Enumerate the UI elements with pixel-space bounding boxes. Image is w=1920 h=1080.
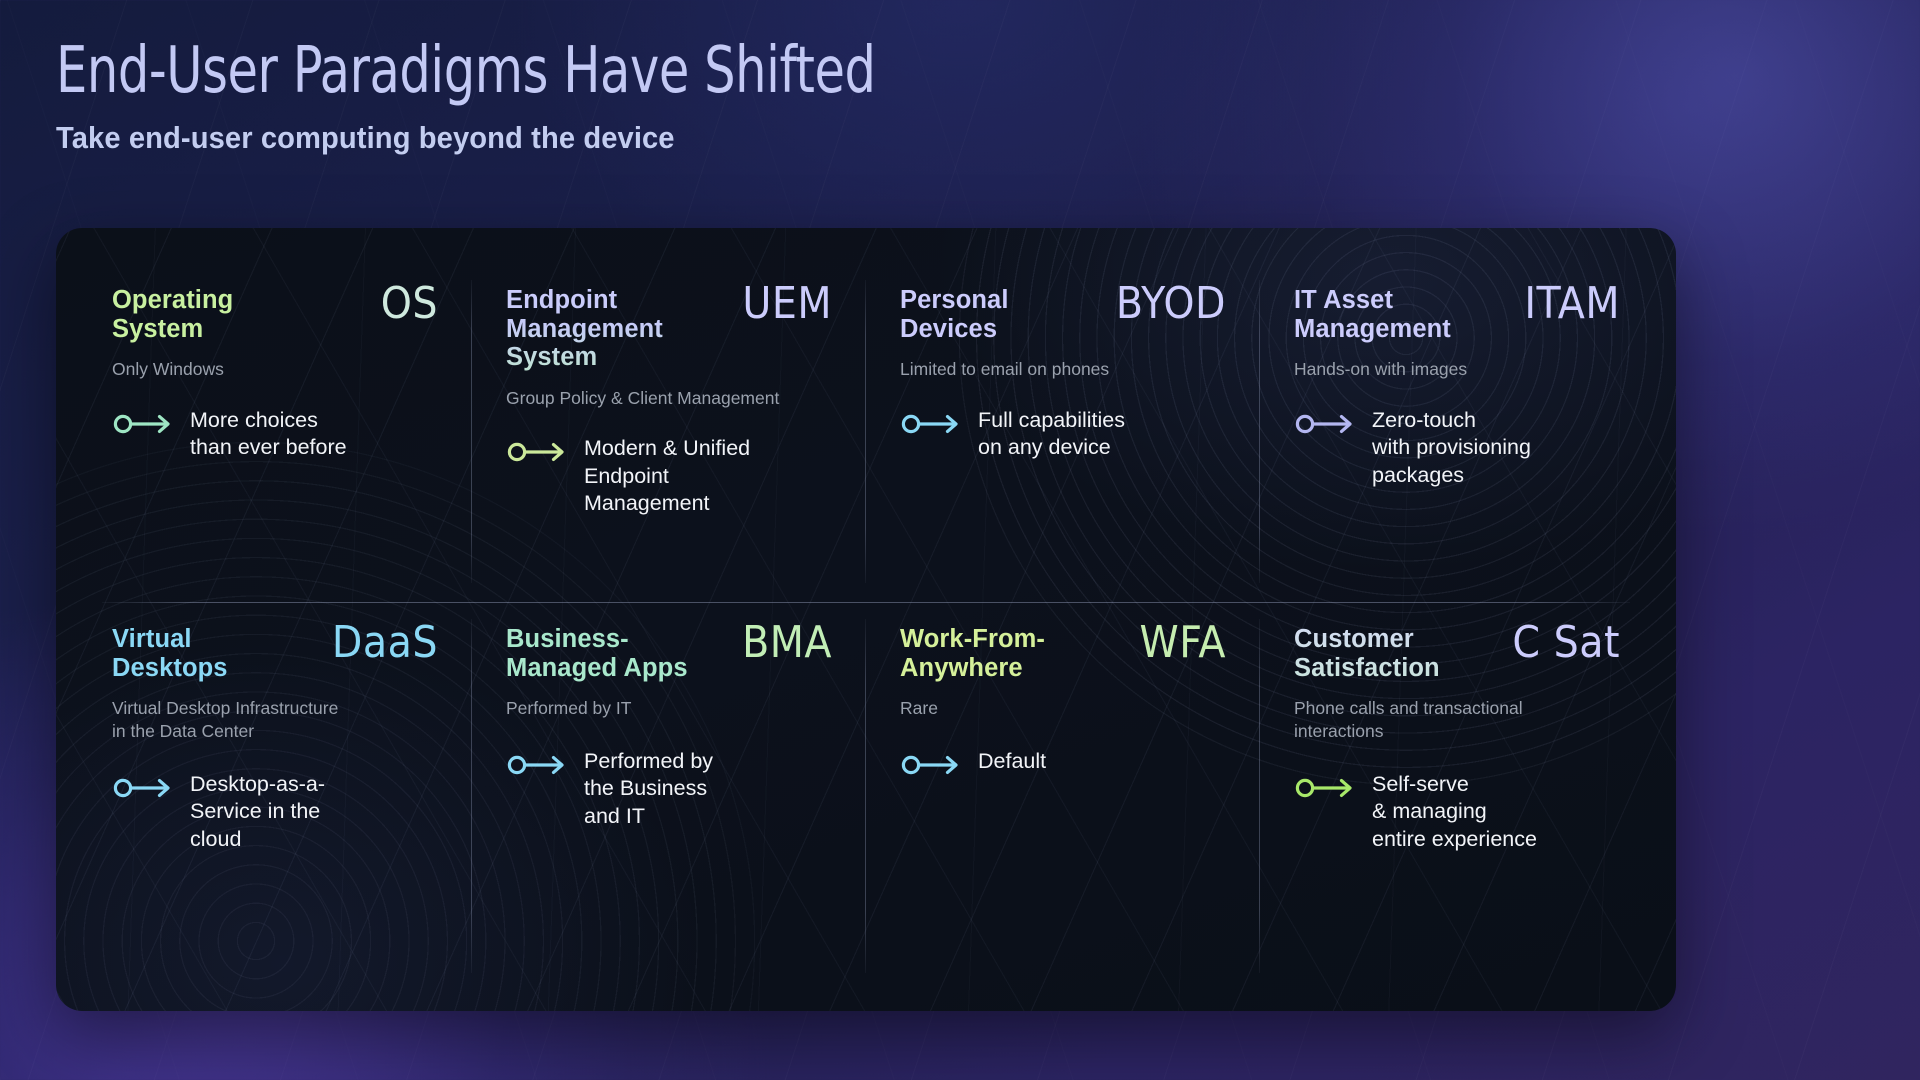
- cell-outcome-text-byod: Full capabilities on any device: [978, 407, 1125, 462]
- cell-outcome-text-os: More choices than ever before: [190, 407, 347, 462]
- cell-header-itam: IT Asset ManagementITAM: [1294, 286, 1620, 343]
- cell-outcome-text-bma: Performed by the Business and IT: [584, 748, 713, 831]
- cell-title-itam: IT Asset Management: [1294, 286, 1451, 343]
- cell-description-byod: Limited to email on phones: [900, 358, 1226, 381]
- paradigm-cell-wfa: Work-From- AnywhereWFARareDefault: [866, 601, 1260, 991]
- cell-title-c-sat: Customer Satisfaction: [1294, 625, 1440, 682]
- cell-header-os: Operating SystemOS: [112, 286, 438, 343]
- circle-arrow-icon: [112, 411, 174, 442]
- circle-arrow-icon: [112, 775, 174, 806]
- cell-outcome-wfa: Default: [900, 748, 1226, 783]
- circle-arrow-icon: [900, 752, 962, 783]
- cell-description-os: Only Windows: [112, 358, 438, 381]
- cell-outcome-byod: Full capabilities on any device: [900, 407, 1226, 462]
- cell-abbreviation-wfa: WFA: [1140, 621, 1226, 665]
- cell-outcome-uem: Modern & Unified Endpoint Management: [506, 435, 832, 518]
- cell-abbreviation-bma: BMA: [742, 621, 832, 665]
- cell-header-c-sat: Customer SatisfactionC Sat: [1294, 625, 1620, 682]
- slide-header: End-User Paradigms Have Shifted Take end…: [56, 38, 1356, 156]
- cell-title-wfa: Work-From- Anywhere: [900, 625, 1045, 682]
- page-title: End-User Paradigms Have Shifted: [56, 38, 1174, 106]
- cell-outcome-text-itam: Zero-touch with provisioning packages: [1372, 407, 1531, 490]
- circle-arrow-icon: [1294, 775, 1356, 806]
- cell-header-wfa: Work-From- AnywhereWFA: [900, 625, 1226, 682]
- circle-arrow-icon: [506, 439, 568, 470]
- circle-arrow-icon: [1294, 411, 1356, 442]
- cell-description-itam: Hands-on with images: [1294, 358, 1620, 381]
- cell-title-daas: Virtual Desktops: [112, 625, 228, 682]
- cell-outcome-c-sat: Self-serve & managing entire experience: [1294, 771, 1620, 854]
- cell-title-uem: Endpoint Management System: [506, 286, 663, 372]
- paradigm-cell-uem: Endpoint Management SystemUEMGroup Polic…: [472, 262, 866, 601]
- cell-title-os: Operating System: [112, 286, 233, 343]
- cell-outcome-text-c-sat: Self-serve & managing entire experience: [1372, 771, 1537, 854]
- cell-description-daas: Virtual Desktop Infrastructure in the Da…: [112, 697, 438, 743]
- paradigm-cell-daas: Virtual DesktopsDaaSVirtual Desktop Infr…: [78, 601, 472, 991]
- cell-outcome-text-uem: Modern & Unified Endpoint Management: [584, 435, 750, 518]
- cell-header-bma: Business- Managed AppsBMA: [506, 625, 832, 682]
- cell-header-uem: Endpoint Management SystemUEM: [506, 286, 832, 372]
- paradigm-cell-c-sat: Customer SatisfactionC SatPhone calls an…: [1260, 601, 1654, 991]
- circle-arrow-icon: [506, 752, 568, 783]
- paradigm-cell-bma: Business- Managed AppsBMAPerformed by IT…: [472, 601, 866, 991]
- cell-abbreviation-daas: DaaS: [332, 621, 438, 665]
- cell-description-wfa: Rare: [900, 697, 1226, 720]
- cell-header-daas: Virtual DesktopsDaaS: [112, 625, 438, 682]
- cell-header-byod: Personal DevicesBYOD: [900, 286, 1226, 343]
- paradigm-grid: Operating SystemOSOnly WindowsMore choic…: [56, 228, 1676, 1011]
- paradigm-cell-byod: Personal DevicesBYODLimited to email on …: [866, 262, 1260, 601]
- circle-arrow-icon: [900, 411, 962, 442]
- paradigm-cell-os: Operating SystemOSOnly WindowsMore choic…: [78, 262, 472, 601]
- cell-abbreviation-itam: ITAM: [1524, 282, 1620, 326]
- cell-outcome-os: More choices than ever before: [112, 407, 438, 462]
- cell-description-c-sat: Phone calls and transactional interactio…: [1294, 697, 1620, 743]
- cell-abbreviation-c-sat: C Sat: [1512, 621, 1620, 665]
- cell-abbreviation-uem: UEM: [742, 282, 832, 326]
- cell-outcome-text-wfa: Default: [978, 748, 1046, 776]
- page-subtitle: Take end-user computing beyond the devic…: [56, 120, 1278, 156]
- cell-description-uem: Group Policy & Client Management: [506, 387, 832, 410]
- cell-abbreviation-byod: BYOD: [1116, 282, 1226, 326]
- cell-title-bma: Business- Managed Apps: [506, 625, 688, 682]
- cell-abbreviation-os: OS: [381, 282, 438, 326]
- paradigm-cell-itam: IT Asset ManagementITAMHands-on with ima…: [1260, 262, 1654, 601]
- paradigm-card: Operating SystemOSOnly WindowsMore choic…: [56, 228, 1676, 1011]
- cell-outcome-daas: Desktop-as-a- Service in the cloud: [112, 771, 438, 854]
- cell-title-byod: Personal Devices: [900, 286, 1009, 343]
- cell-description-bma: Performed by IT: [506, 697, 832, 720]
- cell-outcome-itam: Zero-touch with provisioning packages: [1294, 407, 1620, 490]
- cell-outcome-text-daas: Desktop-as-a- Service in the cloud: [190, 771, 325, 854]
- cell-outcome-bma: Performed by the Business and IT: [506, 748, 832, 831]
